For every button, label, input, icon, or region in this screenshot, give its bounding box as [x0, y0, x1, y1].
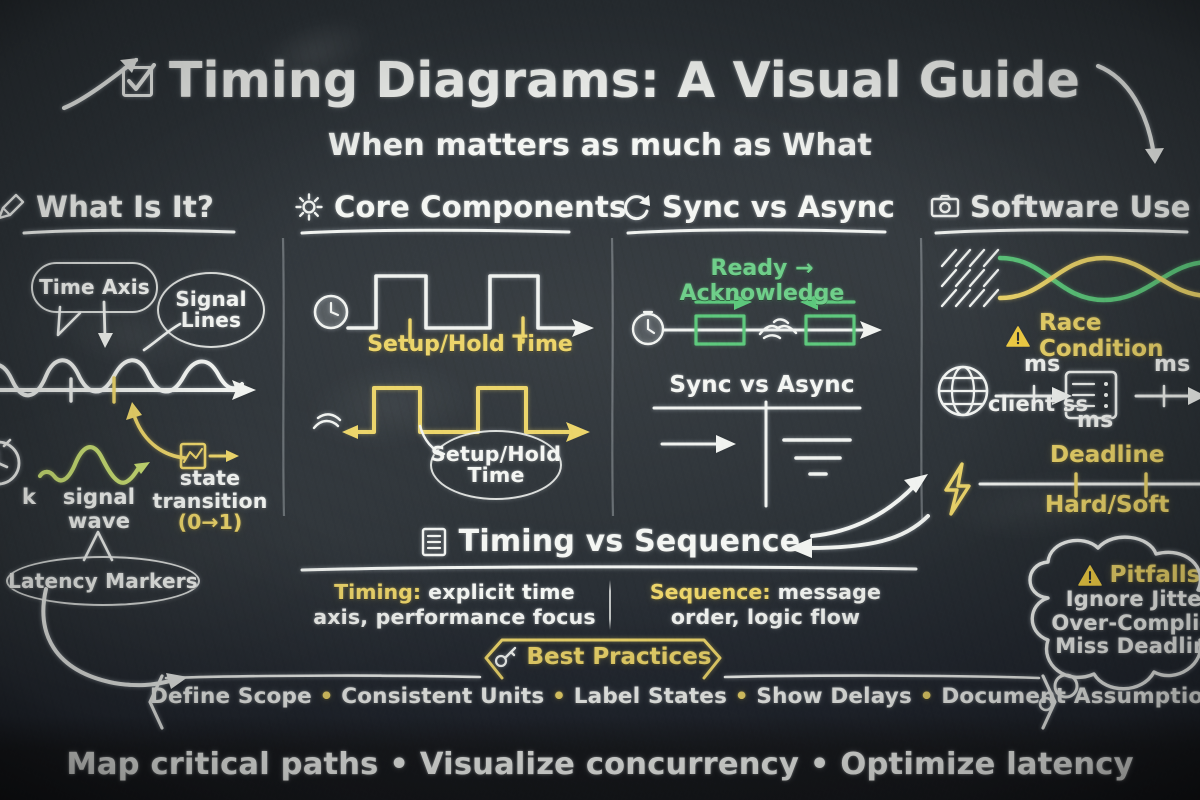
- checkbox-checked-icon: [120, 63, 156, 99]
- timing-column: Timing: explicit time axis, performance …: [300, 580, 609, 630]
- state-transition-value: (0→1): [150, 510, 270, 534]
- best-practices-title: Best Practices: [527, 644, 712, 670]
- globe-icon: [934, 362, 992, 420]
- state-transition-label: state transition: [150, 467, 270, 512]
- lightning-bolt-icon: [938, 462, 978, 518]
- panel-software-use-cases: Software Use C: [930, 192, 1200, 234]
- page-title-text: Timing Diagrams: A Visual Guide: [169, 56, 1080, 105]
- sync-vs-async-label: Sync vs Async: [632, 372, 892, 398]
- refresh-cycle-icon: [622, 192, 652, 222]
- key-icon: [494, 645, 518, 669]
- panel-underline: [22, 228, 237, 236]
- clock-icon: [311, 292, 351, 332]
- tagline-item: Optimize latency: [840, 747, 1133, 782]
- bullet-separator: •: [389, 747, 409, 782]
- callout-latency-markers-text: Latency Markers: [8, 571, 198, 592]
- signal-wave-label: signal wave: [34, 485, 164, 533]
- callout-setup-hold-time: Setup/Hold Time: [430, 430, 562, 500]
- panel-sync-vs-async: Sync vs Async: [622, 192, 912, 234]
- chalkboard-infographic: Timing Diagrams: A Visual Guide When mat…: [0, 0, 1200, 800]
- callout-signal-lines-text: Signal Lines: [175, 289, 246, 331]
- panel-title-what-is-it: What Is It?: [36, 193, 214, 222]
- latency-ms-right: ms: [1154, 352, 1190, 377]
- page-subtitle: When matters as much as What: [0, 128, 1200, 163]
- pencil-icon: [0, 192, 26, 222]
- camera-icon: [930, 192, 960, 222]
- tagline: Map critical paths • Visualize concurren…: [0, 747, 1200, 782]
- race-condition-curves: [1000, 248, 1200, 314]
- timing-vs-sequence-title: Timing vs Sequence: [459, 524, 801, 559]
- warning-triangle-icon: [1006, 326, 1030, 347]
- timing-column-key: Timing:: [334, 580, 421, 604]
- callout-signal-lines: Signal Lines: [157, 272, 265, 348]
- panel-core-components: Core Components: [294, 192, 594, 234]
- callout-time-axis-text: Time Axis: [39, 277, 150, 298]
- sequence-column: Sequence: message order, logic flow: [611, 580, 920, 630]
- panel-underline: [934, 228, 1190, 236]
- tagline-item: Visualize concurrency: [420, 747, 799, 782]
- sync-async-compare-glyph: [654, 402, 870, 510]
- pitfalls-thought-bubble: Pitfalls Ignore Jitter Over-Complica Mis…: [1034, 540, 1200, 708]
- panel-title-sync-vs-async: Sync vs Async: [662, 193, 895, 222]
- timing-sequence-arrow: [778, 512, 938, 570]
- client-server-label: client ss: [988, 392, 1088, 416]
- panel-underline: [626, 228, 888, 236]
- cloud-outline: [1022, 534, 1200, 714]
- setup-hold-time-label: Setup/Hold Time: [348, 332, 592, 357]
- panel-title-software-use-cases: Software Use C: [970, 193, 1200, 222]
- panel-title-core-components: Core Components: [334, 193, 626, 222]
- callout-setup-hold-time-text: Setup/Hold Time: [431, 444, 561, 487]
- latency-ms-left: ms: [1024, 352, 1060, 377]
- tagline-item: Map critical paths: [66, 747, 378, 782]
- callout-latency-markers: Latency Markers: [6, 556, 200, 606]
- panel-what-is-it: What Is It?: [0, 192, 278, 234]
- time-axis-pointer-arrow: [92, 300, 124, 354]
- sequence-column-key: Sequence:: [650, 580, 771, 604]
- deadline-label: Deadline: [1050, 442, 1164, 468]
- gear-icon: [294, 192, 324, 222]
- ready-acknowledge-label: Ready → Acknowledge: [632, 256, 892, 306]
- list-document-icon: [420, 527, 448, 557]
- hard-soft-label: Hard/Soft: [1045, 492, 1169, 518]
- panel-underline: [300, 228, 572, 236]
- hatching-icon: [938, 248, 1008, 316]
- page-title: Timing Diagrams: A Visual Guide: [0, 53, 1200, 105]
- bullet-separator: •: [810, 747, 830, 782]
- stopwatch-icon: [628, 308, 668, 348]
